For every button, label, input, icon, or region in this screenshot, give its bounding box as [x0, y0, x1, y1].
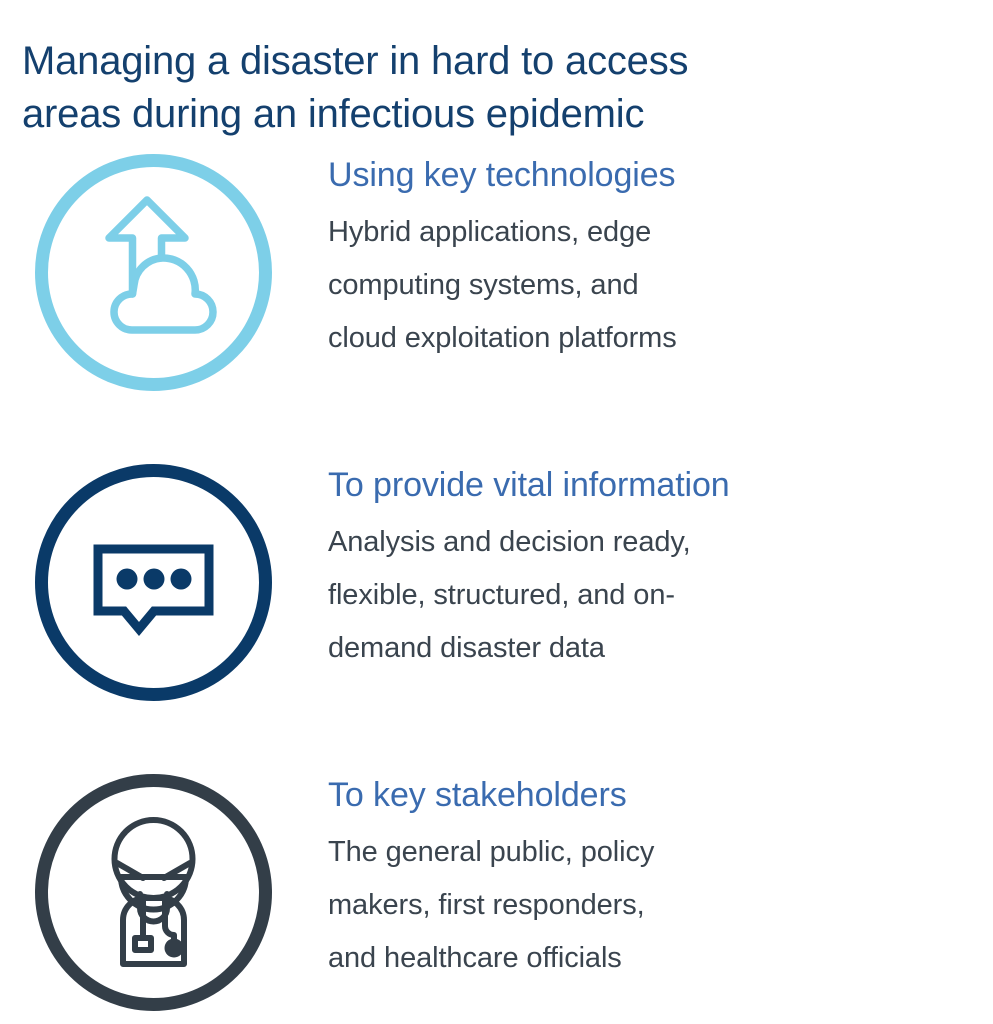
card-heading: To provide vital information [328, 464, 948, 506]
card-body: Hybrid applications, edge computing syst… [328, 206, 948, 365]
arrow-up-shape [109, 200, 185, 294]
card-heading: Using key technologies [328, 154, 948, 196]
cloud-upload-arrow-icon [35, 154, 272, 391]
bubble-dot-1 [117, 569, 138, 590]
icon-badge-using-key-technologies [35, 154, 272, 391]
speech-bubble-dots-icon [35, 464, 272, 701]
icon-ring [42, 161, 266, 385]
doctor-head [115, 820, 193, 898]
card-body: The general public, policy makers, first… [328, 826, 948, 985]
card-heading: To key stakeholders [328, 774, 948, 816]
bubble-dot-2 [144, 569, 165, 590]
stethoscope-chestpiece [165, 939, 184, 958]
feature-text-to-provide-vital-information: To provide vital information Analysis an… [328, 464, 948, 675]
page-title: Managing a disaster in hard to access ar… [22, 35, 882, 141]
card-body: Analysis and decision ready, flexible, s… [328, 516, 948, 675]
masked-doctor-stethoscope-icon [35, 774, 272, 1011]
feature-text-to-key-stakeholders: To key stakeholders The general public, … [328, 774, 948, 985]
bubble-dot-3 [171, 569, 192, 590]
icon-badge-to-key-stakeholders [35, 774, 272, 1011]
icon-ring [42, 781, 266, 1005]
feature-text-using-key-technologies: Using key technologies Hybrid applicatio… [328, 154, 948, 365]
icon-badge-to-provide-vital-information [35, 464, 272, 701]
